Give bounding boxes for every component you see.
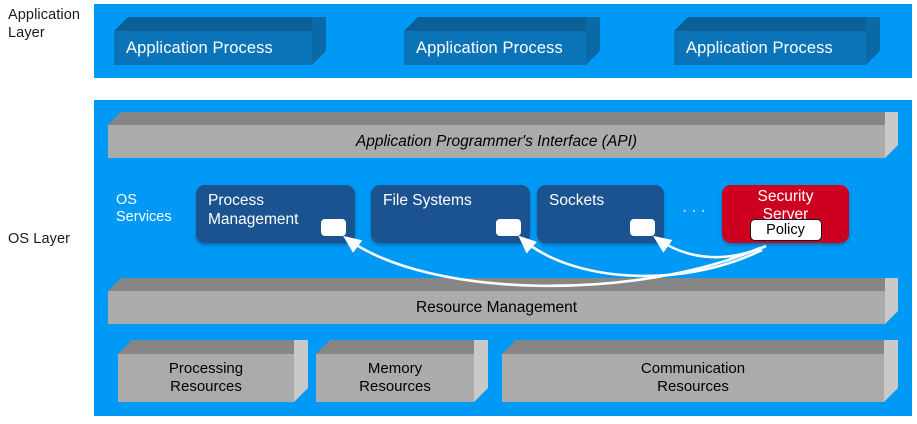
box-top-face [502,340,898,354]
application-process-box-3[interactable]: Application Process [674,17,880,65]
bar-right-face [885,112,898,158]
application-process-box-2[interactable]: Application Process [404,17,600,65]
box-right-face [586,17,600,65]
application-process-label-2: Application Process [404,31,586,65]
service-label-sockets: Sockets [549,191,604,210]
bar-top-face [108,112,898,125]
policy-hook-icon[interactable] [321,219,346,236]
box-top-face [316,340,488,354]
policy-hook-icon[interactable] [630,219,655,236]
resource-management-bar[interactable]: Resource Management [108,278,898,324]
service-box-sockets[interactable]: Sockets [537,185,664,243]
api-bar[interactable]: Application Programmer's Interface (API) [108,112,898,158]
application-process-label-3: Application Process [674,31,866,65]
ellipsis-more-services: ... [682,196,710,218]
box-top-face [404,17,600,31]
service-label-process-management: Process Management [208,191,298,229]
processing-resources-box[interactable]: Processing Resources [118,340,308,402]
memory-resources-label: Memory Resources [316,354,474,402]
application-process-box-1[interactable]: Application Process [114,17,326,65]
bar-right-face [885,278,898,324]
box-right-face [884,340,898,402]
application-process-label-1: Application Process [114,31,312,65]
resource-management-label: Resource Management [108,291,885,324]
bar-top-face [108,278,898,291]
processing-resources-label: Processing Resources [118,354,294,402]
policy-box[interactable]: Policy [750,219,822,241]
box-top-face [114,17,326,31]
service-label-file-systems: File Systems [383,191,472,210]
box-top-face [674,17,880,31]
api-bar-label: Application Programmer's Interface (API) [108,125,885,158]
os-layer-label: OS Layer [8,230,100,248]
architecture-diagram: Application Layer OS Layer Application P… [0,0,917,424]
memory-resources-box[interactable]: Memory Resources [316,340,488,402]
application-layer-panel: Application Process Application Process … [94,4,912,78]
communication-resources-label: Communication Resources [502,354,884,402]
security-server-box[interactable]: Security Server Policy [722,185,849,243]
box-right-face [312,17,326,65]
box-right-face [294,340,308,402]
os-layer-panel: Application Programmer's Interface (API)… [94,100,912,416]
box-right-face [866,17,880,65]
application-layer-label: Application Layer [8,6,100,42]
box-top-face [118,340,308,354]
service-box-process-management[interactable]: Process Management [196,185,355,243]
communication-resources-box[interactable]: Communication Resources [502,340,898,402]
service-box-file-systems[interactable]: File Systems [371,185,530,243]
box-right-face [474,340,488,402]
os-services-label: OS Services [116,192,172,226]
policy-hook-icon[interactable] [496,219,521,236]
